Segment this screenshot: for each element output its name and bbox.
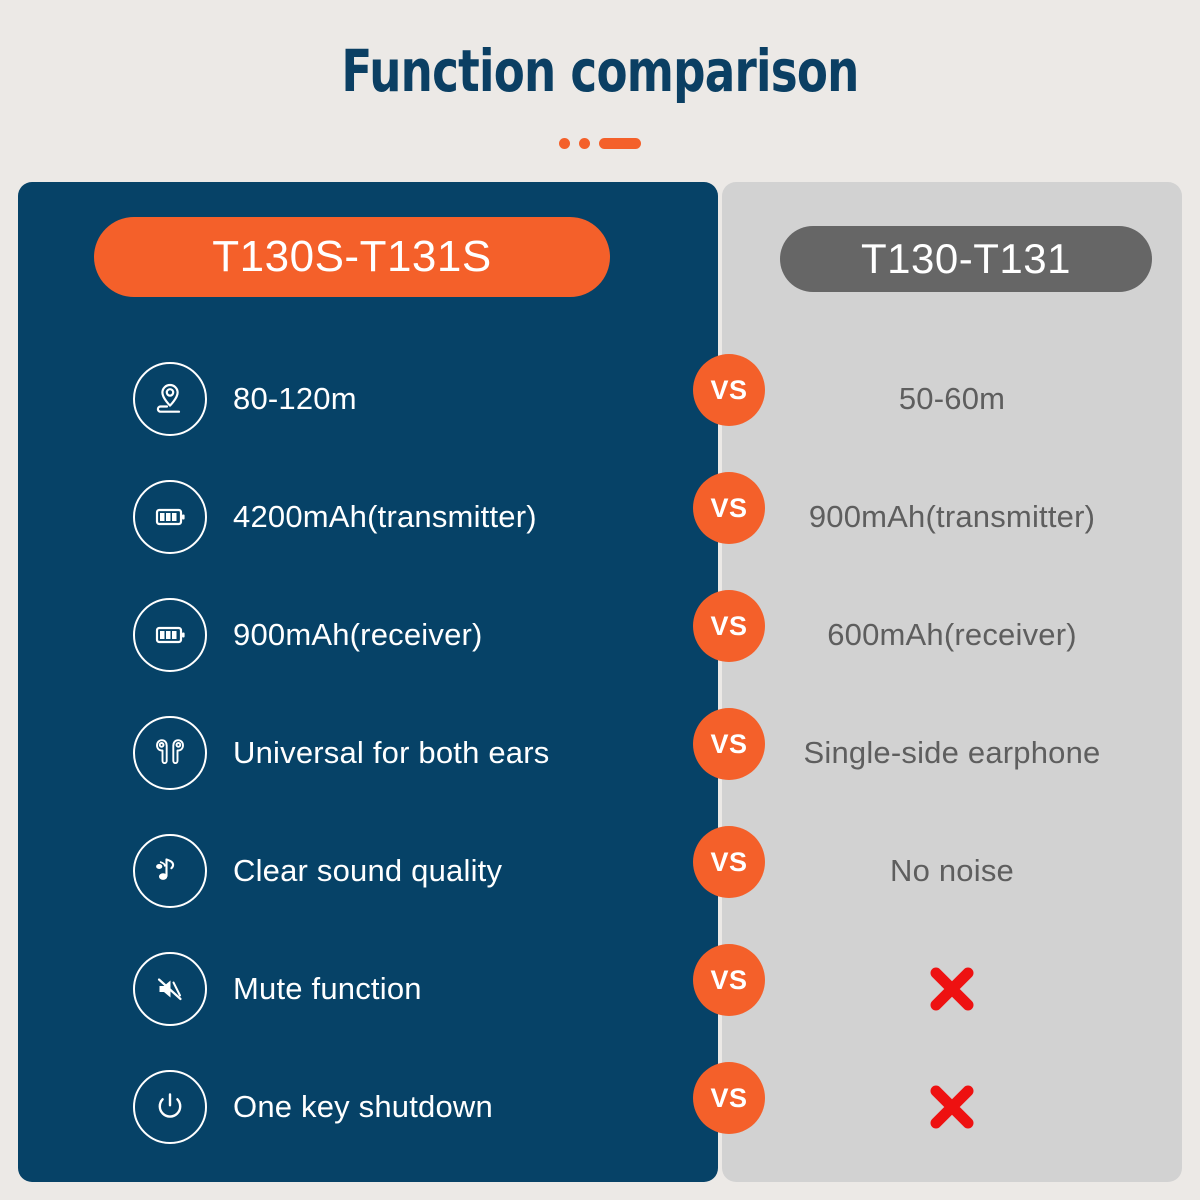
compare-label: No noise [890,853,1014,889]
row-left-cell: Mute function [133,930,422,1048]
page-title: Function comparison [132,0,1068,100]
table-row: 80-120m VS 50-60m [18,340,1182,458]
table-row: 900mAh(receiver) VS 600mAh(receiver) [18,576,1182,694]
mute-speaker-icon [133,952,207,1026]
compare-label: 50-60m [899,381,1005,417]
table-row: One key shutdown VS [18,1048,1182,1166]
row-left-cell: One key shutdown [133,1048,493,1166]
battery-icon [133,480,207,554]
compare-label: Single-side earphone [804,735,1101,771]
earbuds-icon [133,716,207,790]
compare-label: 900mAh(transmitter) [809,499,1095,535]
feature-label: 900mAh(receiver) [233,617,483,653]
table-row: Mute function VS [18,930,1182,1048]
row-left-cell: 900mAh(receiver) [133,576,483,694]
title-decoration [0,138,1200,149]
row-right-cell: 900mAh(transmitter) [722,458,1182,576]
right-product-label: T130-T131 [861,235,1071,283]
decoration-bar [599,138,641,149]
comparison-table: T130S-T131S T130-T131 80-120m VS 50-60m [18,182,1182,1182]
feature-label: Clear sound quality [233,853,502,889]
table-row: Universal for both ears VS Single-side e… [18,694,1182,812]
decoration-dot-2 [579,138,590,149]
row-left-cell: 4200mAh(transmitter) [133,458,537,576]
row-left-cell: 80-120m [133,340,357,458]
feature-label: Mute function [233,971,422,1007]
music-note-icon [133,834,207,908]
power-button-icon [133,1070,207,1144]
left-product-label: T130S-T131S [212,232,491,282]
row-left-cell: Clear sound quality [133,812,502,930]
compare-label: 600mAh(receiver) [827,617,1077,653]
left-product-pill: T130S-T131S [94,217,610,297]
row-right-cell: Single-side earphone [722,694,1182,812]
row-right-cell [722,1048,1182,1166]
row-left-cell: Universal for both ears [133,694,549,812]
feature-label: 80-120m [233,381,357,417]
feature-label: 4200mAh(transmitter) [233,499,537,535]
row-right-cell: 600mAh(receiver) [722,576,1182,694]
row-right-cell: 50-60m [722,340,1182,458]
cross-icon [924,1079,980,1135]
table-row: 4200mAh(transmitter) VS 900mAh(transmitt… [18,458,1182,576]
location-pin-icon [133,362,207,436]
feature-label: Universal for both ears [233,735,549,771]
row-right-cell: No noise [722,812,1182,930]
feature-label: One key shutdown [233,1089,493,1125]
table-row: Clear sound quality VS No noise [18,812,1182,930]
right-product-pill: T130-T131 [780,226,1152,292]
battery-icon [133,598,207,672]
row-right-cell [722,930,1182,1048]
decoration-dot-1 [559,138,570,149]
header-area: Function comparison [0,0,1200,182]
cross-icon [924,961,980,1017]
